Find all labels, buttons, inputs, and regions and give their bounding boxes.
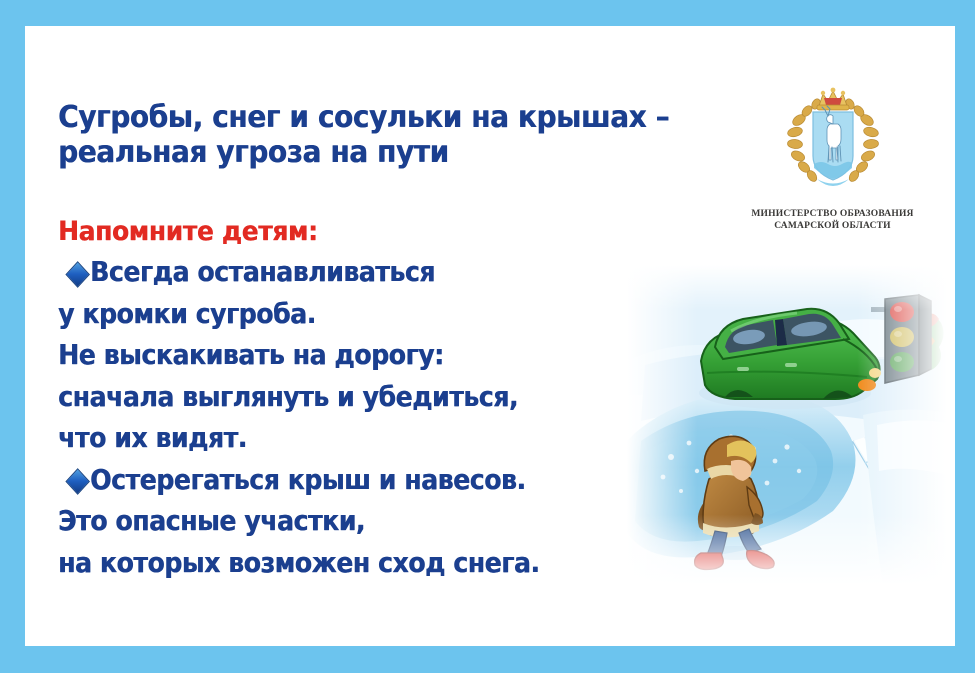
winter-street-illustration [627,265,947,585]
diamond-bullet-icon [65,468,90,495]
headline-line-2: реальная угроза на пути [58,135,635,170]
advice-line-6: Остерегаться крыш и навесов. [58,460,589,502]
advice-line-5: что их видят. [58,418,589,460]
advice-line-3: Не выскакивать на дорогу: [58,335,589,377]
advice-line-1-text: Всегда останавливаться [90,256,435,288]
advice-line-8: на которых возможен сход снега. [58,543,589,585]
advice-line-4: сначала выглянуть и убедиться, [58,377,589,419]
diamond-bullet-icon [65,261,90,288]
advice-line-6-text: Остерегаться крыш и навесов. [90,464,525,496]
emblem-caption: МИНИСТЕРСТВО ОБРАЗОВАНИЯ САМАРСКОЙ ОБЛАС… [725,208,940,232]
poster-root: Сугробы, снег и сосульки на крышах – реа… [0,0,975,673]
advice-line-1: Всегда останавливаться [58,252,589,294]
headline-line-1: Сугробы, снег и сосульки на крышах – [58,100,635,135]
advice-line-2: у кромки сугроба. [58,294,589,336]
samara-coat-of-arms-icon [783,84,883,202]
emblem-caption-line-1: МИНИСТЕРСТВО ОБРАЗОВАНИЯ [725,208,940,220]
page-title: Сугробы, снег и сосульки на крышах – реа… [58,100,635,170]
advice-line-7: Это опасные участки, [58,501,589,543]
ministry-emblem-block: МИНИСТЕРСТВО ОБРАЗОВАНИЯ САМАРСКОЙ ОБЛАС… [725,84,940,232]
poster-panel: Сугробы, снег и сосульки на крышах – реа… [25,26,955,646]
emblem-caption-line-2: САМАРСКОЙ ОБЛАСТИ [725,220,940,232]
subheading: Напомните детям: [58,217,318,247]
advice-list: Всегда останавливаться у кромки сугроба.… [58,252,638,584]
